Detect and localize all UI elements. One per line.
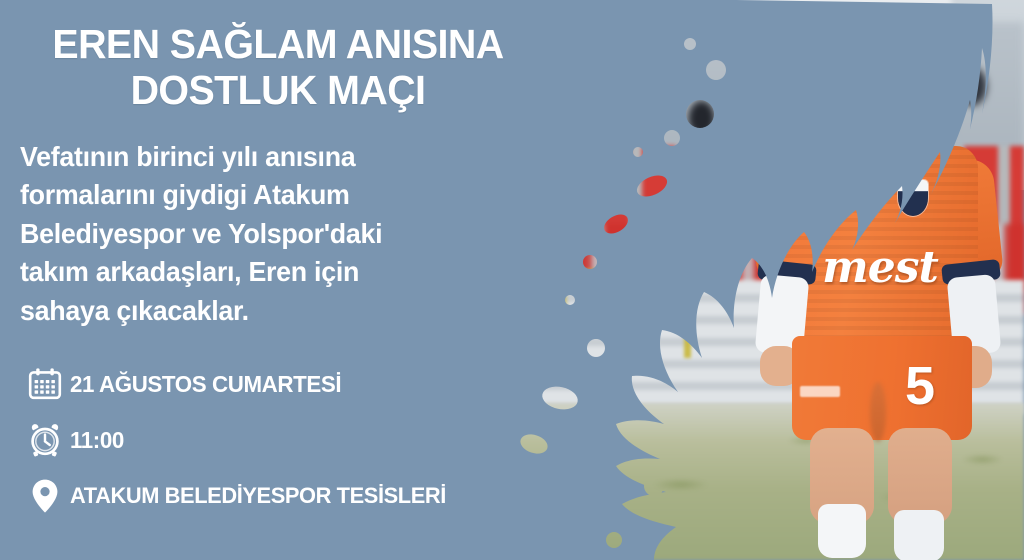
- jersey-brand-logo: [808, 186, 848, 198]
- event-location-label: ATAKUM BELEDİYESPOR TESİSLERİ: [70, 483, 446, 509]
- description-paragraph: Vefatının birinci yılı anısına formaları…: [20, 138, 523, 331]
- player-photo: mest 5: [504, 0, 1024, 560]
- body-line-1: Vefatının birinci yılı anısına: [20, 138, 523, 177]
- page-title: EREN SAĞLAM ANISINA DOSTLUK MAÇI: [30, 22, 525, 114]
- shorts-number: 5: [896, 356, 944, 416]
- body-line-2: formalarını giydigi Atakum: [20, 176, 523, 215]
- body-line-3: Belediyespor ve Yolspor'daki: [20, 215, 523, 254]
- player-sock-left: [818, 504, 866, 558]
- event-details-list: 21 AĞUSTOS CUMARTESİ 11:00: [20, 356, 540, 524]
- headline-line-1: EREN SAĞLAM ANISINA: [52, 21, 503, 67]
- text-content-column: EREN SAĞLAM ANISINA DOSTLUK MAÇI Vefatın…: [0, 0, 560, 560]
- stadium-background: mest 5: [504, 0, 1024, 560]
- poster-canvas: mest 5 EREN SAĞLAM ANISINA DOSTLUK: [0, 0, 1024, 560]
- footballer-figure: mest 5: [752, 4, 1002, 560]
- headline-line-2: DOSTLUK MAÇI: [30, 68, 525, 114]
- event-date-row: 21 AĞUSTOS CUMARTESİ: [20, 356, 540, 412]
- body-line-4: takım arkadaşları, Eren için: [20, 253, 523, 292]
- event-time-row: 11:00: [20, 412, 540, 468]
- event-location-row: ATAKUM BELEDİYESPOR TESİSLERİ: [20, 468, 540, 524]
- player-ear: [902, 64, 922, 90]
- alarm-clock-icon: [20, 423, 70, 457]
- location-pin-icon: [20, 478, 70, 514]
- body-line-5: sahaya çıkacaklar.: [20, 292, 523, 331]
- player-sock-right: [894, 510, 944, 560]
- shorts-leg-split: [870, 382, 886, 442]
- event-date-label: 21 AĞUSTOS CUMARTESİ: [70, 371, 341, 398]
- shorts-brand-logo: [800, 386, 840, 397]
- calendar-icon: [20, 367, 70, 401]
- event-time-label: 11:00: [70, 427, 124, 454]
- jersey-sponsor-text: mest: [796, 242, 964, 294]
- club-crest-icon: [898, 180, 928, 216]
